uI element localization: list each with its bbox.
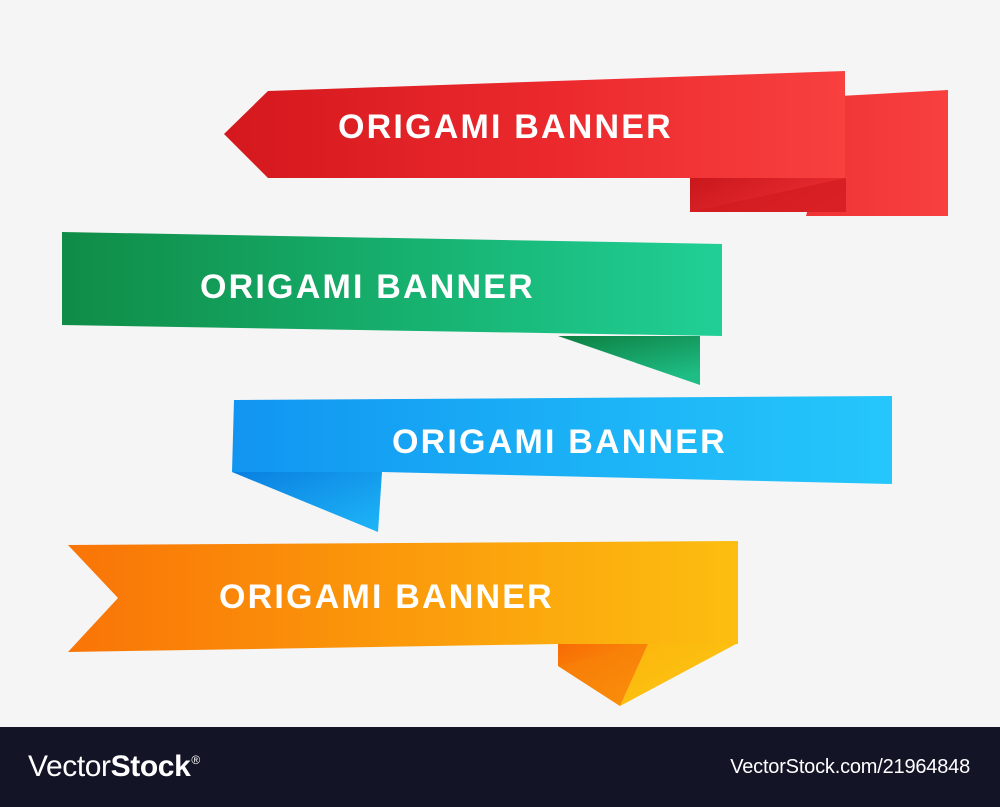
banner-blue[interactable]: ORIGAMI BANNER: [232, 396, 892, 532]
banner-green-tail: [558, 336, 700, 385]
banner-orange[interactable]: ORIGAMI BANNER: [68, 541, 738, 706]
logo-text-bold: Stock: [111, 750, 191, 784]
banner-blue-label: ORIGAMI BANNER: [392, 423, 727, 461]
banner-green-label: ORIGAMI BANNER: [200, 268, 535, 306]
banner-red-label: ORIGAMI BANNER: [338, 108, 673, 146]
banner-green[interactable]: ORIGAMI BANNER: [62, 232, 722, 385]
banner-orange-label: ORIGAMI BANNER: [219, 578, 554, 616]
footer-bar: VectorStock® VectorStock.com/21964848: [0, 727, 1000, 807]
footer-url: VectorStock.com/21964848: [730, 756, 970, 779]
banner-blue-tail: [232, 472, 382, 532]
registered-trademark-icon: ®: [191, 753, 199, 767]
banner-red[interactable]: ORIGAMI BANNER: [224, 71, 948, 216]
vectorstock-logo: VectorStock®: [28, 750, 200, 784]
logo-text-light: Vector: [28, 750, 111, 784]
artboard: ORIGAMI BANNER ORIGAMI BANNER ORIGAMI BA…: [0, 0, 1000, 727]
origami-banner-illustration: ORIGAMI BANNER ORIGAMI BANNER ORIGAMI BA…: [0, 0, 1000, 727]
screenshot-root: ORIGAMI BANNER ORIGAMI BANNER ORIGAMI BA…: [0, 0, 1000, 807]
